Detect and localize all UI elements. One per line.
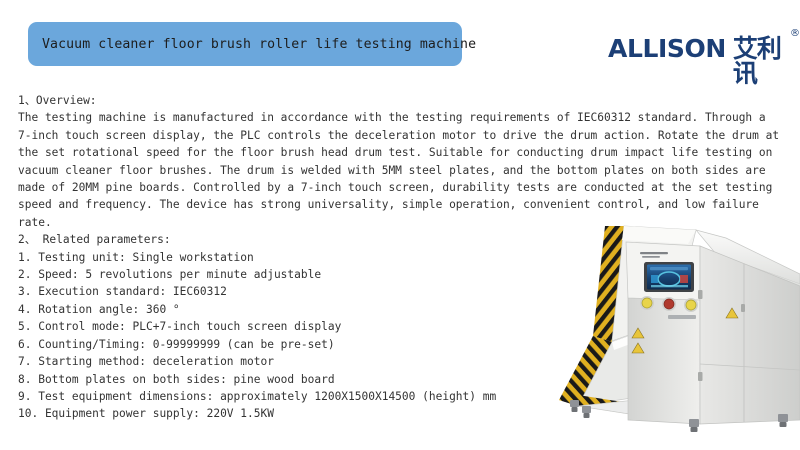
brand-logo: ALLISON 艾利讯 ® (608, 36, 800, 86)
registered-trademark-icon: ® (790, 29, 800, 39)
section-heading-overview: 1、Overview: (18, 92, 780, 109)
leveling-foot (778, 414, 788, 422)
logo-text-english: ALLISON (608, 36, 726, 61)
cabinet-hinge (698, 372, 703, 381)
machine-nameplate (668, 315, 696, 319)
stop-button (664, 299, 674, 309)
hmi-left-widget (651, 275, 658, 283)
overview-line: 7-inch touch screen display, the PLC con… (18, 127, 780, 144)
leveling-foot (570, 400, 579, 407)
leveling-foot-pad (584, 413, 590, 418)
leveling-foot-pad (572, 407, 578, 412)
product-photo (548, 224, 800, 450)
machine-model-label (642, 256, 660, 258)
overview-line: speed and frequency. The device has stro… (18, 196, 780, 213)
reset-button (686, 300, 696, 310)
leveling-foot-pad (691, 427, 698, 432)
cabinet-hinge (741, 304, 745, 312)
overview-line: vacuum cleaner floor brushes. The drum i… (18, 162, 780, 179)
hmi-status-bar (651, 285, 688, 287)
page-title: Vacuum cleaner floor brush roller life t… (42, 37, 476, 52)
logo-text-chinese: 艾利讯 (733, 36, 787, 86)
hmi-right-widget (680, 275, 688, 283)
overview-line: The testing machine is manufactured in a… (18, 109, 780, 126)
leveling-foot (689, 419, 699, 427)
machine-brand-label (640, 252, 668, 254)
leveling-foot-pad (780, 422, 787, 427)
overview-line: made of 20MM pine boards. Controlled by … (18, 179, 780, 196)
page-header: Vacuum cleaner floor brush roller life t… (0, 0, 800, 88)
hmi-title-bar (650, 267, 688, 270)
leveling-foot (582, 406, 591, 413)
overview-line: the set rotational speed for the floor b… (18, 144, 780, 161)
start-button (642, 298, 652, 308)
page-title-banner: Vacuum cleaner floor brush roller life t… (28, 22, 462, 66)
cabinet-hinge (698, 290, 703, 299)
